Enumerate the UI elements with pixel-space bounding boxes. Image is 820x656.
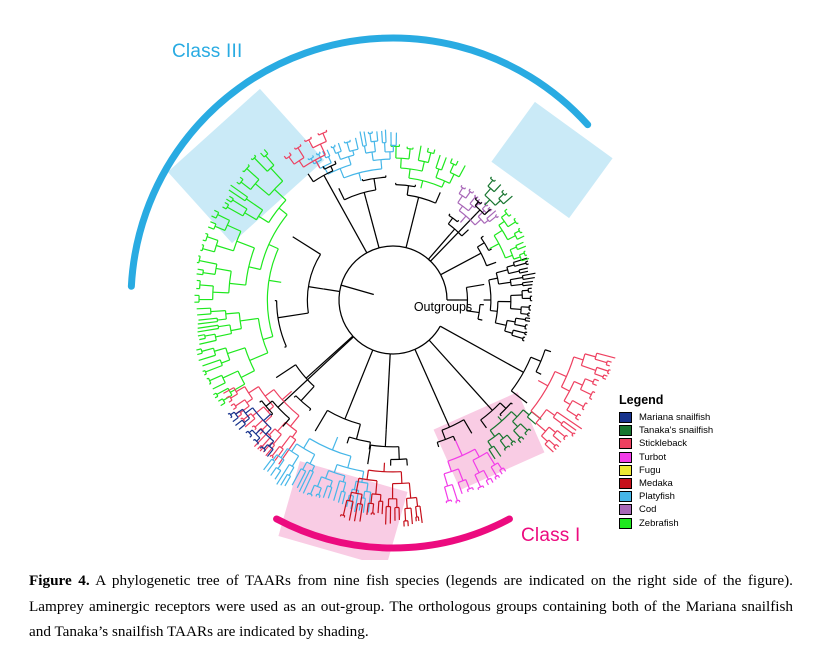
tree-branch <box>580 390 591 395</box>
tree-branch <box>531 372 555 412</box>
tree-branch <box>606 365 609 366</box>
tree-branch <box>495 475 498 477</box>
legend-item-label: Medaka <box>639 478 673 489</box>
tree-branch <box>557 431 565 437</box>
tree-branch <box>202 245 204 246</box>
tree-branch <box>203 240 206 241</box>
tree-branch <box>313 141 326 147</box>
tree-branch <box>200 281 201 289</box>
tree-branch <box>309 409 310 411</box>
tree-branch <box>428 235 449 259</box>
tree-branch <box>259 387 274 407</box>
tree-branch <box>272 457 273 458</box>
tree-branch <box>494 230 502 235</box>
tree-branch <box>525 255 527 256</box>
tree-branch <box>409 178 442 187</box>
tree-branch <box>511 309 522 310</box>
tree-branch <box>377 131 378 141</box>
tree-branch <box>355 138 358 149</box>
tree-branch <box>459 206 462 211</box>
tree-branch <box>597 367 608 371</box>
tree-branch <box>536 372 541 375</box>
tree-branch <box>523 281 533 282</box>
tree-branch <box>442 157 447 170</box>
tree-branch <box>255 428 256 429</box>
tree-branch <box>445 487 449 501</box>
tree-branch <box>478 319 482 320</box>
tree-branch <box>347 437 349 443</box>
tree-branch <box>496 270 507 273</box>
tree-branch <box>564 401 570 405</box>
tree-branch <box>216 268 231 271</box>
tree-branch <box>437 442 438 447</box>
tree-branch <box>520 271 528 273</box>
tree-branch <box>446 500 451 501</box>
tree-branch <box>328 157 331 163</box>
tree-branch <box>264 450 265 452</box>
tree-branch <box>519 268 528 270</box>
tree-branch <box>324 175 327 181</box>
tree-branch <box>497 216 499 217</box>
legend-item-label: Fugu <box>639 465 661 476</box>
tree-branch <box>216 245 233 250</box>
tree-branch <box>246 431 248 433</box>
tree-branch <box>436 169 439 178</box>
tree-branch <box>417 498 418 507</box>
tree-branch <box>576 418 579 420</box>
tree-branch <box>541 436 547 442</box>
tree-branch <box>316 494 317 496</box>
tree-branch <box>305 138 311 141</box>
tree-branch <box>524 252 525 256</box>
tree-branch <box>585 379 593 382</box>
tree-branch <box>516 318 526 319</box>
tree-branch <box>370 133 371 141</box>
tree-branch <box>279 208 287 215</box>
tree-branch <box>276 365 295 378</box>
tree-branch <box>213 383 226 389</box>
tree-branch <box>210 375 222 380</box>
tree-branch <box>487 262 497 265</box>
tree-branch <box>344 190 375 200</box>
tree-branch <box>418 146 421 161</box>
tree-branch <box>499 282 511 284</box>
legend-color-swatch <box>619 491 632 502</box>
class-iii-label: Class III <box>172 41 242 62</box>
tree-branch <box>283 337 353 402</box>
tree-branch <box>488 207 490 209</box>
tree-branch <box>197 274 203 275</box>
tree-branch <box>267 249 278 337</box>
tree-branch <box>211 311 226 312</box>
tree-branch <box>567 410 577 416</box>
tree-branch <box>494 185 501 192</box>
tree-branch <box>490 311 497 312</box>
figure-caption: Figure 4. A phylogenetic tree of TAARs f… <box>29 568 793 645</box>
tree-branch <box>520 253 525 255</box>
tree-branch <box>257 443 258 444</box>
tree-branch <box>401 158 402 168</box>
tree-branch <box>367 248 379 253</box>
tree-branch <box>531 357 541 361</box>
legend-item-label: Platyfish <box>639 491 675 502</box>
tree-branch <box>309 439 350 457</box>
tree-branch <box>356 424 360 439</box>
tree-branch <box>416 506 420 507</box>
tree-branch <box>233 407 236 409</box>
tree-branch <box>337 465 364 472</box>
tree-branch <box>199 256 200 263</box>
tree-branch <box>514 218 515 219</box>
tree-branch <box>239 424 245 429</box>
tree-branch <box>270 455 271 457</box>
tree-branch <box>293 237 321 255</box>
tree-branch <box>349 437 370 442</box>
tree-branch <box>477 197 478 199</box>
legend-item-label: Cod <box>639 504 656 515</box>
tree-branch <box>241 371 254 378</box>
tree-branch <box>415 340 429 349</box>
tree-branch <box>365 491 371 492</box>
tree-branch <box>441 275 447 300</box>
tree-branch <box>494 180 495 181</box>
tree-branch <box>332 147 335 148</box>
tree-branch <box>226 313 239 314</box>
tree-branch <box>526 264 528 265</box>
tree-branch <box>513 262 514 266</box>
tree-branch <box>456 500 459 501</box>
tree-branch <box>311 495 312 497</box>
legend-item: Medaka <box>619 477 723 490</box>
tree-branch <box>202 245 204 251</box>
tree-branch <box>450 159 452 163</box>
tree-branch <box>348 456 351 468</box>
tree-branch <box>201 349 202 353</box>
tree-branch <box>333 147 335 153</box>
tree-branch <box>274 390 299 416</box>
tree-branch <box>214 348 225 351</box>
tree-branch <box>608 373 610 374</box>
tree-branch <box>289 467 294 475</box>
tree-branch <box>573 400 584 406</box>
tree-branch <box>371 445 399 447</box>
tree-branch <box>229 283 245 285</box>
tree-branch <box>349 157 352 165</box>
tree-branch <box>217 319 226 320</box>
tree-branch <box>457 220 458 222</box>
tree-branch <box>231 404 234 406</box>
tree-branch <box>578 414 581 416</box>
tree-branch <box>526 261 528 262</box>
tree-branch <box>386 354 390 430</box>
tree-branch <box>606 361 607 365</box>
tree-branch <box>523 278 535 280</box>
tree-branch <box>511 357 530 391</box>
tree-branch <box>452 485 457 501</box>
legend-color-swatch <box>619 518 632 529</box>
tree-branch <box>509 215 511 217</box>
tree-branch <box>320 163 331 168</box>
tree-branch <box>556 444 559 446</box>
tree-branch <box>198 318 217 320</box>
tree-branch <box>510 280 511 286</box>
tree-branch <box>272 446 279 455</box>
tree-branch <box>204 374 206 375</box>
tree-branch <box>478 488 479 490</box>
tree-branch <box>382 501 383 514</box>
tree-branch <box>238 414 241 416</box>
tree-branch <box>459 165 465 176</box>
tree-branch <box>385 130 386 143</box>
figure-4: Class III Class I Outgroups Legend Maria… <box>0 0 820 656</box>
tree-branch <box>582 409 584 410</box>
tree-branch <box>206 234 208 241</box>
legend-item: Tanaka's snailfish <box>619 424 723 437</box>
tree-branch <box>545 350 551 352</box>
tree-branch <box>213 286 214 300</box>
tree-branch <box>512 366 524 372</box>
tree-branch <box>536 423 546 431</box>
tree-branch <box>518 228 519 229</box>
tree-branch <box>510 250 514 259</box>
tree-branch <box>604 375 608 376</box>
tree-branch <box>564 438 565 439</box>
tree-branch <box>486 481 488 485</box>
tree-branch <box>307 493 308 495</box>
tree-branch <box>511 284 523 285</box>
tree-branch <box>490 177 491 178</box>
tree-branch <box>444 474 448 486</box>
tree-branch <box>341 285 374 294</box>
tree-branch <box>564 381 574 400</box>
tree-branch <box>498 475 499 477</box>
tree-branch <box>203 270 204 275</box>
tree-branch <box>318 133 319 135</box>
tree-branch <box>478 217 484 224</box>
tree-branch <box>243 171 244 172</box>
tree-branch <box>504 196 513 204</box>
tree-branch <box>367 203 379 247</box>
tree-branch <box>429 326 440 340</box>
tree-branch <box>566 435 568 436</box>
tree-branch <box>199 338 205 339</box>
tree-branch <box>549 440 555 446</box>
tree-branch <box>574 381 582 385</box>
tree-branch <box>391 459 407 460</box>
legend-color-swatch <box>619 438 632 449</box>
tree-branch <box>466 192 471 198</box>
tree-branch <box>197 308 211 309</box>
legend-color-swatch <box>619 465 632 476</box>
tree-branch <box>278 402 283 407</box>
tree-branch <box>382 131 383 143</box>
tree-branch <box>490 244 499 249</box>
tree-branch <box>607 361 611 362</box>
tree-branch <box>221 403 225 406</box>
tree-branch <box>505 255 512 258</box>
tree-branch <box>364 192 367 203</box>
legend-item: Turbot <box>619 451 723 464</box>
tree-branch <box>513 330 525 333</box>
tree-branch <box>563 421 576 430</box>
tree-branch <box>378 501 379 513</box>
tree-branch <box>508 222 516 227</box>
tree-branch <box>555 372 566 377</box>
tree-branch <box>436 155 440 168</box>
tree-branch <box>508 236 516 240</box>
tree-branch <box>531 411 540 418</box>
tree-branch <box>476 210 480 214</box>
tree-branch <box>449 229 454 235</box>
tree-branch <box>460 216 466 222</box>
tree-branch <box>450 172 459 176</box>
tree-branch <box>407 149 413 150</box>
tree-branch <box>265 390 274 397</box>
tree-branch <box>304 439 310 449</box>
outgroups-label: Outgroups <box>414 300 472 314</box>
tree-branch <box>205 335 206 339</box>
tree-branch <box>353 150 354 155</box>
tree-branch <box>308 174 313 182</box>
tree-branch <box>339 292 353 337</box>
tree-branch <box>308 158 309 159</box>
tree-branch <box>470 197 475 204</box>
tree-branch <box>381 160 382 169</box>
tree-branch <box>203 273 215 275</box>
tree-branch <box>516 246 518 250</box>
tree-branch <box>440 326 512 366</box>
tree-branch <box>269 245 278 249</box>
legend-item: Cod <box>619 503 723 516</box>
tree-branch <box>233 418 238 422</box>
tree-branch <box>199 261 217 265</box>
tree-branch <box>418 160 428 162</box>
tree-branch <box>445 485 453 487</box>
tree-branch <box>406 248 430 262</box>
tree-branch <box>385 430 386 447</box>
tree-branch <box>603 375 604 378</box>
tree-branch <box>481 202 482 203</box>
tree-branch <box>436 178 450 184</box>
legend: Legend Mariana snailfishTanaka's snailfi… <box>619 393 723 530</box>
tree-branch <box>271 414 273 415</box>
tree-branch <box>485 189 491 196</box>
tree-branch <box>469 189 470 191</box>
tree-branch <box>324 289 340 292</box>
tree-branch <box>396 158 409 159</box>
tree-branch <box>285 347 287 348</box>
legend-item: Stickleback <box>619 437 723 450</box>
tree-branch <box>501 213 506 217</box>
tree-branch <box>468 206 472 211</box>
tree-branch <box>456 161 458 165</box>
tree-branch <box>525 321 530 322</box>
tree-branch <box>499 194 504 199</box>
tree-branch <box>561 357 573 387</box>
tree-branch <box>461 185 462 187</box>
tree-branch <box>465 188 466 189</box>
tree-branch <box>517 246 525 249</box>
tree-branch <box>300 144 301 145</box>
tree-branch <box>590 392 593 399</box>
tree-branch <box>595 359 607 362</box>
tree-branch <box>326 130 327 132</box>
tree-branch <box>407 498 417 499</box>
tree-branch <box>345 142 351 144</box>
tree-branch <box>505 209 507 211</box>
tree-branch <box>319 495 320 497</box>
tree-branch <box>554 447 557 449</box>
tree-branch <box>231 412 235 415</box>
tree-branch <box>422 162 424 172</box>
tree-branch <box>218 325 230 327</box>
tree-branch <box>585 354 596 357</box>
tree-branch <box>526 318 530 319</box>
legend-color-swatch <box>619 478 632 489</box>
tree-branch <box>407 459 408 466</box>
tree-branch <box>331 146 332 148</box>
tree-branch <box>215 334 216 340</box>
tree-branch <box>459 500 460 502</box>
tree-branch <box>499 225 508 239</box>
tree-branch <box>590 398 592 399</box>
tree-branch <box>286 422 297 431</box>
tree-branch <box>358 504 363 505</box>
tree-branch <box>320 144 325 155</box>
tree-branch <box>515 318 516 324</box>
tree-branch <box>260 401 262 402</box>
tree-branch <box>505 211 509 216</box>
tree-branch <box>441 257 475 275</box>
tree-branch <box>294 396 296 398</box>
tree-branch <box>281 436 290 448</box>
class-i-label: Class I <box>521 525 580 546</box>
tree-branch <box>505 320 507 331</box>
tree-branch <box>226 396 229 398</box>
tree-branch <box>308 287 323 289</box>
tree-branch <box>221 360 229 363</box>
tree-branch <box>390 349 415 354</box>
legend-item: Mariana snailfish <box>619 411 723 424</box>
tree-branch <box>481 236 483 238</box>
tree-branch <box>459 188 463 194</box>
tree-branch <box>448 218 452 224</box>
tree-branch <box>407 195 435 203</box>
tree-branch <box>371 141 378 142</box>
tree-branch <box>512 330 513 335</box>
legend-item-label: Turbot <box>639 452 666 463</box>
tree-branch <box>449 214 450 216</box>
tree-branch <box>311 137 312 138</box>
tree-branch <box>249 387 259 393</box>
tree-branch <box>524 251 526 252</box>
tree-branch <box>226 348 230 360</box>
tree-branch <box>489 249 492 251</box>
shade-upper-left <box>168 89 324 243</box>
tree-branch <box>553 436 561 443</box>
tree-branch <box>502 190 504 192</box>
tree-branch <box>491 478 493 482</box>
tree-branch <box>521 232 523 233</box>
tree-branch <box>273 435 281 445</box>
tree-branch <box>489 278 498 280</box>
tree-branch <box>368 503 373 504</box>
tree-branch <box>517 236 524 239</box>
tree-branch <box>215 264 217 274</box>
tree-branch <box>198 325 218 328</box>
tree-branch <box>374 141 375 151</box>
tree-branch <box>231 329 241 331</box>
